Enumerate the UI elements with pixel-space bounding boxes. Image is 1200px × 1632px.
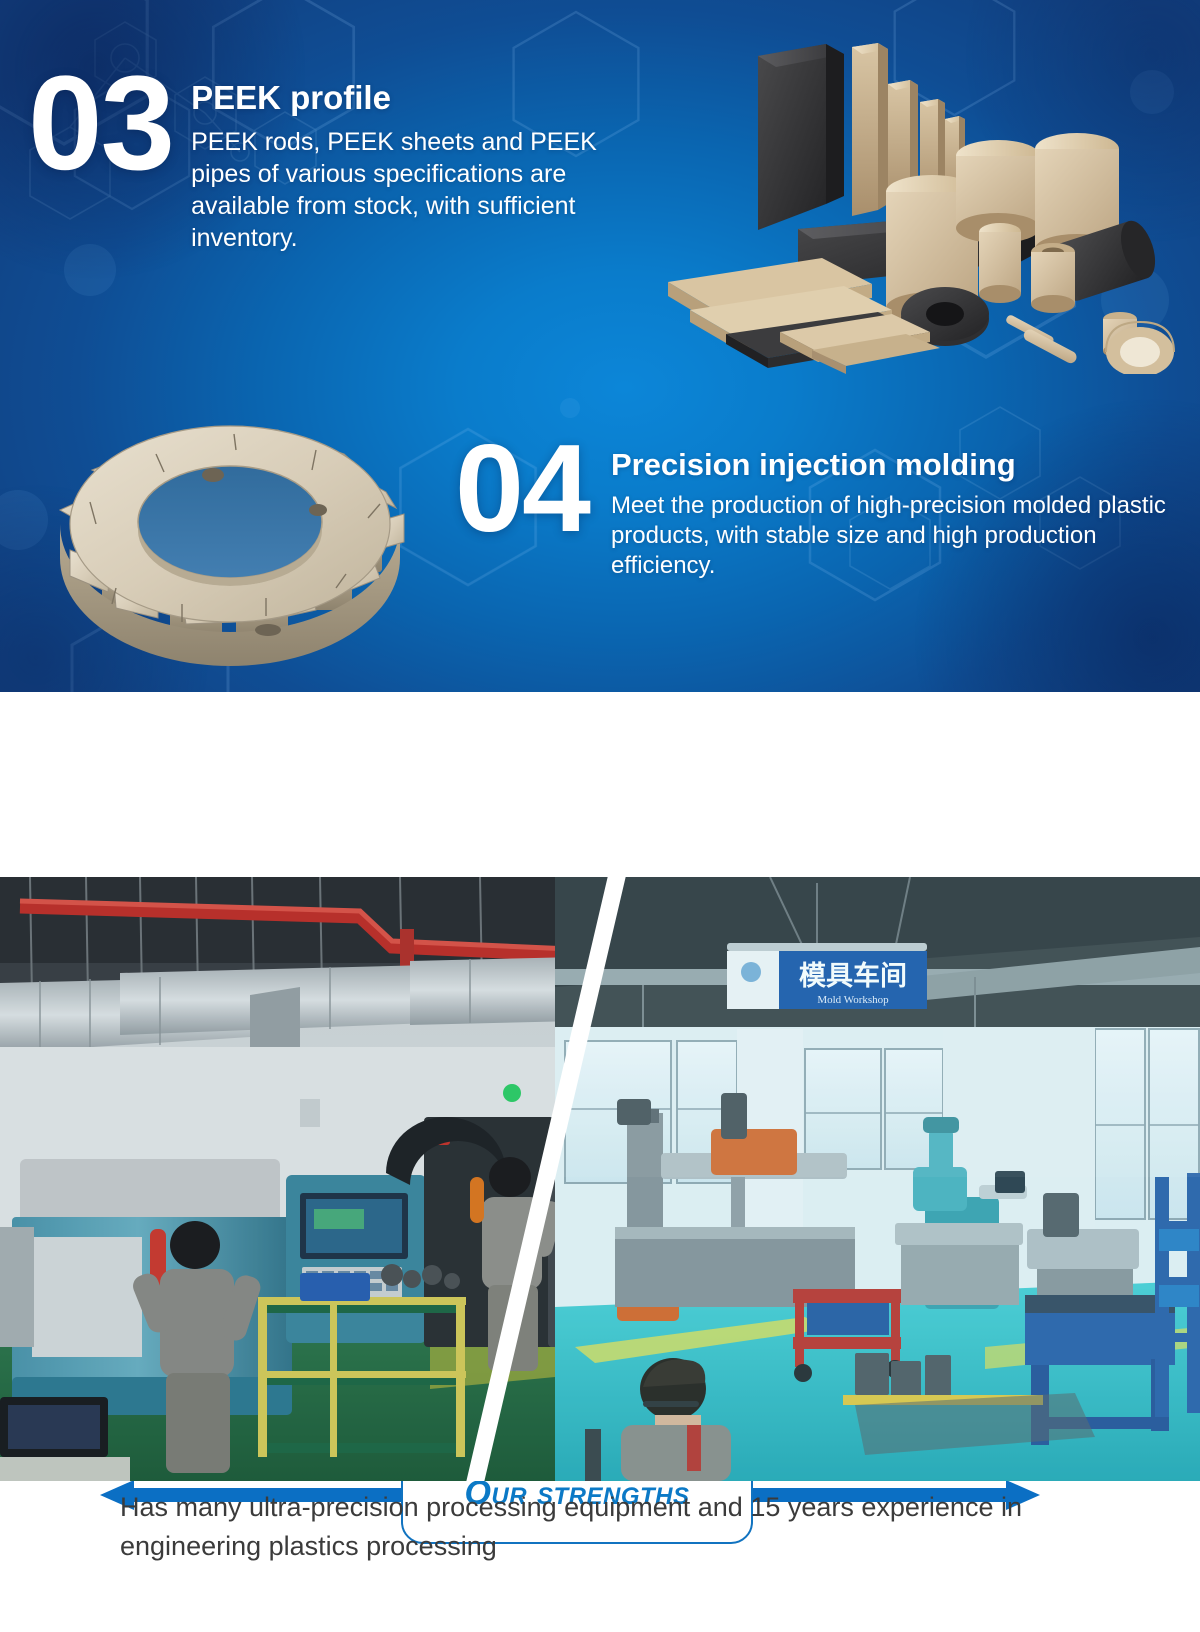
hero-item-03: 03 PEEK profile PEEK rods, PEEK sheets a… <box>28 62 648 254</box>
peek-gear-ring-photo <box>30 392 430 672</box>
bottom-caption: Has many ultra-precision processing equi… <box>0 1488 1200 1566</box>
mold-workshop-photo: 模具车间 Mold Workshop <box>555 877 1200 1481</box>
hero-item-number: 04 <box>455 432 589 581</box>
hero-item-body: Meet the production of high-precision mo… <box>611 491 1175 582</box>
hero-item-number: 03 <box>28 62 173 254</box>
peek-profiles-photo <box>630 14 1190 374</box>
hero-item-title: PEEK profile <box>191 80 648 117</box>
factory-photos: 模具车间 Mold Workshop <box>0 877 1200 1481</box>
our-strengths-banner: Our strengths <box>0 692 1200 882</box>
hero-item-04: 04 Precision injection molding Meet the … <box>455 432 1175 581</box>
hero-section: 03 PEEK profile PEEK rods, PEEK sheets a… <box>0 0 1200 692</box>
hero-item-body: PEEK rods, PEEK sheets and PEEK pipes of… <box>191 126 648 254</box>
hero-item-title: Precision injection molding <box>611 448 1175 483</box>
